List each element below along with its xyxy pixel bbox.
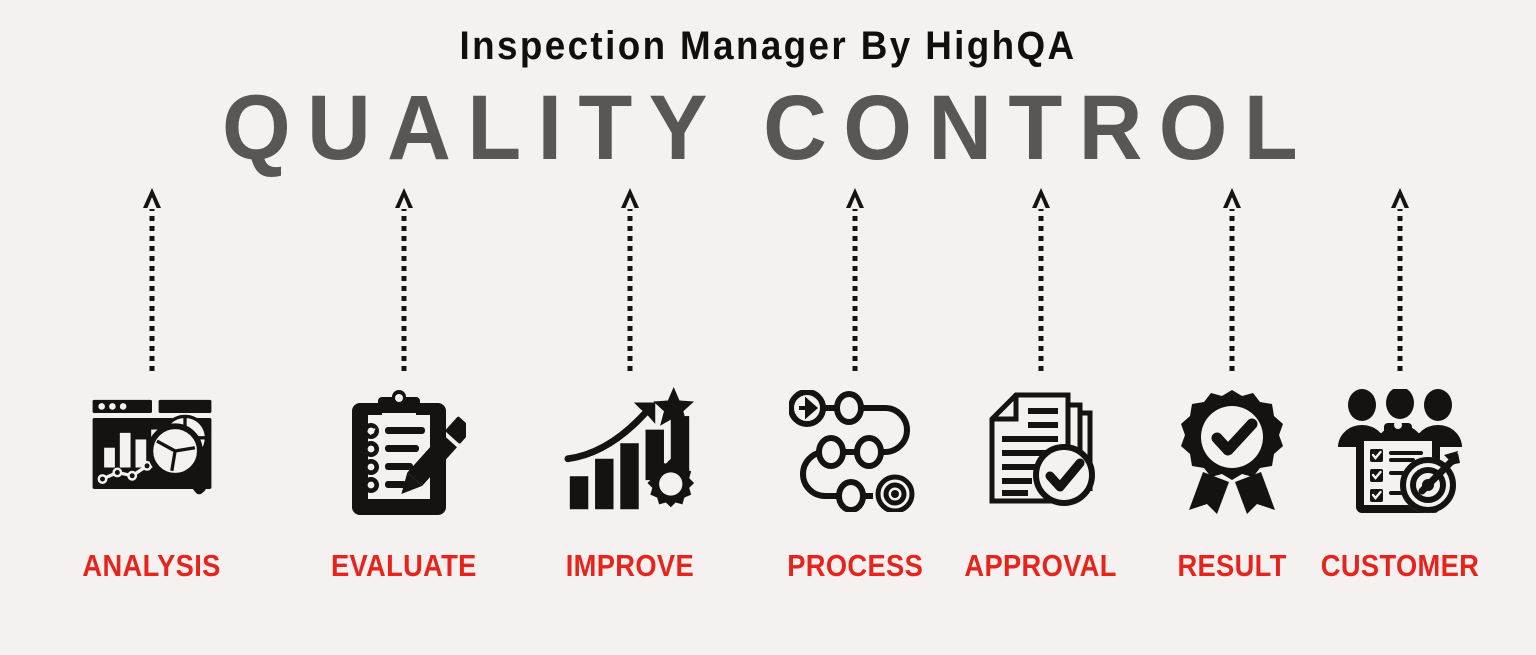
people-clipboard-target-icon bbox=[1334, 388, 1466, 514]
dotted-arrow-up-icon bbox=[394, 188, 414, 374]
step-label: APPROVAL bbox=[965, 550, 1117, 581]
step-label: ANALYSIS bbox=[83, 550, 221, 581]
winding-process-path-target-icon bbox=[789, 388, 921, 514]
dotted-arrow-up-icon bbox=[620, 188, 640, 374]
step-label: CUSTOMER bbox=[1321, 550, 1479, 581]
step-analysis[interactable]: ANALYSIS bbox=[52, 188, 252, 581]
quality-control-infographic: Inspection Manager By HighQA QUALITY CON… bbox=[0, 0, 1536, 655]
subtitle: Inspection Manager By HighQA bbox=[61, 26, 1474, 66]
dotted-arrow-up-icon bbox=[1390, 188, 1410, 374]
step-process[interactable]: PROCESS bbox=[755, 188, 955, 581]
dotted-arrow-up-icon bbox=[1222, 188, 1242, 374]
dotted-arrow-up-icon bbox=[142, 188, 162, 374]
step-label: PROCESS bbox=[787, 550, 923, 581]
steps-row: ANALYSIS bbox=[0, 188, 1536, 608]
step-label: IMPROVE bbox=[566, 550, 694, 581]
dotted-arrow-up-icon bbox=[845, 188, 865, 374]
step-label: EVALUATE bbox=[331, 550, 477, 581]
header: Inspection Manager By HighQA QUALITY CON… bbox=[0, 0, 1536, 177]
page-title: QUALITY CONTROL bbox=[31, 80, 1506, 177]
step-improve[interactable]: IMPROVE bbox=[530, 188, 730, 581]
documents-check-icon bbox=[975, 388, 1107, 514]
step-label: RESULT bbox=[1177, 550, 1286, 581]
step-customer[interactable]: CUSTOMER bbox=[1300, 188, 1500, 581]
step-approval[interactable]: APPROVAL bbox=[941, 188, 1141, 581]
award-badge-check-icon bbox=[1166, 388, 1298, 514]
step-evaluate[interactable]: EVALUATE bbox=[304, 188, 504, 581]
growth-chart-star-gear-icon bbox=[564, 388, 696, 514]
dashboard-analytics-magnifier-icon bbox=[86, 388, 218, 514]
clipboard-checklist-pencil-icon bbox=[338, 388, 470, 514]
dotted-arrow-up-icon bbox=[1031, 188, 1051, 374]
